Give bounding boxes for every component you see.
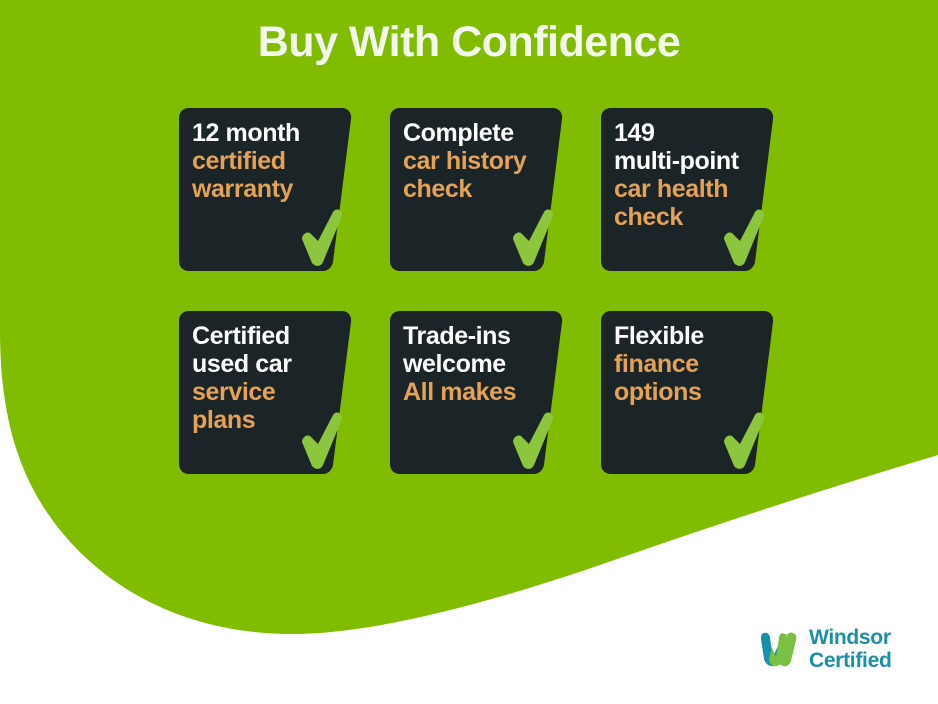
benefit-card-complete-car-history-check[interactable]: Complete car history check <box>390 108 568 271</box>
benefit-card-12-month-certified-warranty[interactable]: 12 month certified warranty <box>179 108 357 271</box>
check-icon <box>299 412 345 470</box>
benefit-card-trade-ins-welcome-all-makes[interactable]: Trade-ins welcome All makes <box>390 311 568 474</box>
benefit-card-flexible-finance-options[interactable]: Flexible finance options <box>601 311 779 474</box>
card-line: warranty <box>192 175 357 203</box>
slide-canvas: Buy With Confidence 12 month certified w… <box>0 0 938 704</box>
check-icon <box>510 412 556 470</box>
card-line: welcome <box>403 350 568 378</box>
card-row-1: 12 month certified warranty Complete car… <box>179 108 779 271</box>
card-line: Complete <box>403 119 568 147</box>
card-line: All makes <box>403 378 568 406</box>
card-line: options <box>614 378 779 406</box>
windsor-certified-logo[interactable]: Windsor Certified <box>757 626 891 672</box>
card-line: check <box>403 175 568 203</box>
card-line: car health <box>614 175 779 203</box>
check-icon <box>721 209 767 267</box>
card-line: 12 month <box>192 119 357 147</box>
card-line: certified <box>192 147 357 175</box>
card-line: car history <box>403 147 568 175</box>
card-line: finance <box>614 350 779 378</box>
benefit-card-149-multi-point-car-health-check[interactable]: 149 multi-point car health check <box>601 108 779 271</box>
card-line: service <box>192 378 357 406</box>
card-line: used car <box>192 350 357 378</box>
card-line: Certified <box>192 322 357 350</box>
card-line: Trade-ins <box>403 322 568 350</box>
logo-line-certified: Certified <box>809 649 891 672</box>
card-row-2: Certified used car service plans Trade-i… <box>179 311 779 474</box>
benefit-card-certified-used-car-service-plans[interactable]: Certified used car service plans <box>179 311 357 474</box>
benefit-card-grid: 12 month certified warranty Complete car… <box>179 108 779 474</box>
windsor-w-icon <box>757 628 800 671</box>
card-line: multi-point <box>614 147 779 175</box>
check-icon <box>721 412 767 470</box>
card-line: 149 <box>614 119 779 147</box>
logo-wordmark: Windsor Certified <box>809 626 891 672</box>
card-line: Flexible <box>614 322 779 350</box>
check-icon <box>510 209 556 267</box>
page-title: Buy With Confidence <box>0 18 938 67</box>
logo-line-windsor: Windsor <box>809 626 891 649</box>
check-icon <box>299 209 345 267</box>
